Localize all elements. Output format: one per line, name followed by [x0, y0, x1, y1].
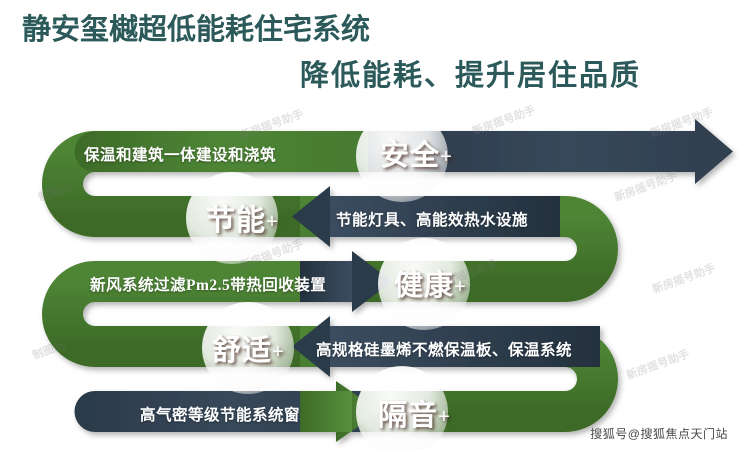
keyword-text-3: 健康 — [394, 270, 454, 302]
keyword-label-2: 节能+ — [206, 197, 279, 239]
row-description-3: 新风系统过滤Pm2.5带热回收装置 — [90, 273, 326, 295]
keyword-text-2: 节能 — [206, 205, 266, 237]
keyword-plus-2: + — [266, 209, 279, 233]
keyword-plus-4: + — [272, 339, 285, 363]
row-description-4: 高规格硅墨烯不燃保温板、保温系统 — [316, 338, 572, 360]
row-description-1: 保温和建筑一体建设和浇筑 — [84, 143, 276, 165]
keyword-plus-5: + — [438, 404, 451, 428]
keyword-text-4: 舒适 — [212, 335, 272, 367]
keyword-label-4: 舒适+ — [212, 327, 285, 369]
keyword-plus-1: + — [440, 144, 453, 168]
keyword-text-1: 安全 — [380, 140, 440, 172]
footer-attribution: 搜狐号@搜狐焦点天门站 — [590, 425, 728, 442]
keyword-plus-3: + — [454, 274, 467, 298]
page-title: 静安玺樾超低能耗住宅系统 — [22, 6, 370, 48]
page-subtitle: 降低能耗、提升居住品质 — [300, 52, 641, 94]
footer-source: 搜狐号 — [590, 427, 628, 441]
footer-at: @ — [628, 427, 641, 441]
row-description-2: 节能灯具、高能效热水设施 — [336, 208, 528, 230]
keyword-label-5: 隔音+ — [378, 392, 451, 434]
slide-canvas: 新房摇号助手 新房摇号助手 新房摇号助手 制图by 新房摇号助手 新房摇号助手 … — [0, 0, 740, 450]
keyword-text-5: 隔音 — [378, 400, 438, 432]
keyword-label-3: 健康+ — [394, 262, 467, 304]
row-description-5: 高气密等级节能系统窗 — [140, 403, 300, 425]
keyword-label-1: 安全+ — [380, 132, 453, 174]
footer-account: 搜狐焦点天门站 — [640, 427, 728, 441]
